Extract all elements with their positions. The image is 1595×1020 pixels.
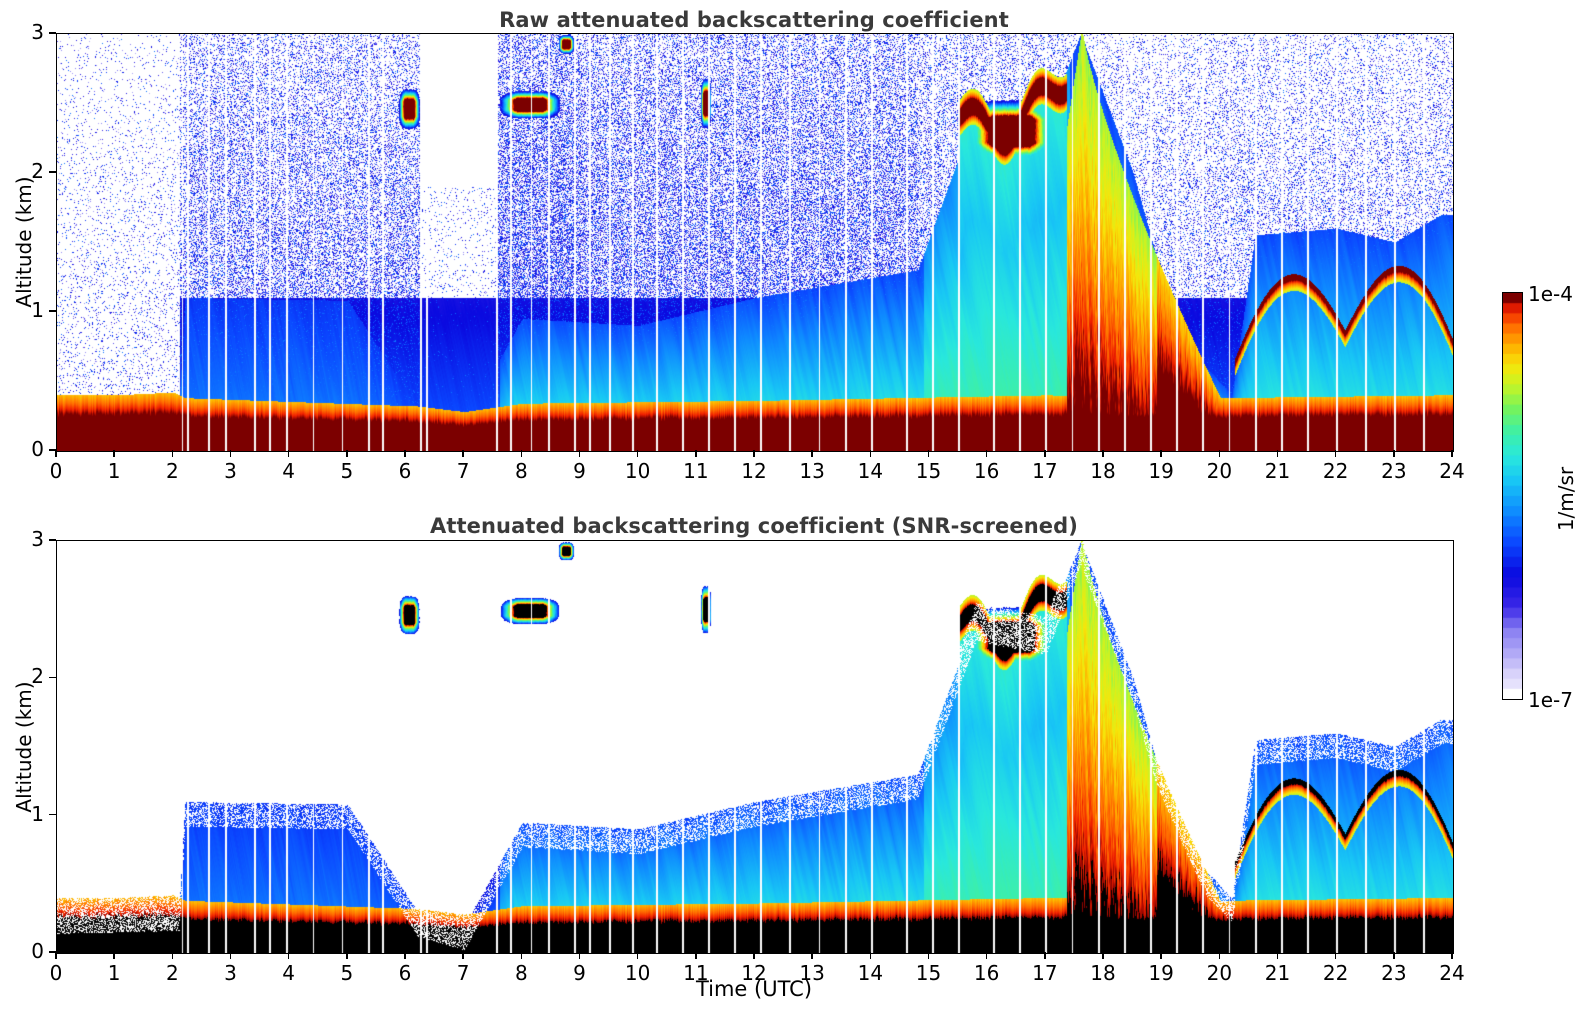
x-tick-label-raw-7: 7 xyxy=(433,459,493,483)
x-tick-label-raw-16: 16 xyxy=(957,459,1017,483)
x-tick-8 xyxy=(521,450,522,457)
x-tick-14 xyxy=(870,450,871,457)
x-tick-21 xyxy=(1277,952,1278,959)
x-tick-label-raw-5: 5 xyxy=(317,459,377,483)
x-tick-label-3: 3 xyxy=(201,961,261,985)
y-tick-label-1: 1 xyxy=(0,802,44,826)
y-tick-label-0: 0 xyxy=(0,437,44,461)
panel-title-screened: Attenuated backscattering coefficient (S… xyxy=(56,514,1452,538)
x-tick-17 xyxy=(1044,952,1045,959)
x-tick-label-raw-11: 11 xyxy=(666,459,726,483)
plot-screened-backscatter xyxy=(56,540,1454,954)
x-tick-label-raw-22: 22 xyxy=(1306,459,1366,483)
y-tick-0 xyxy=(49,951,56,952)
x-tick-label-16: 16 xyxy=(957,961,1017,985)
y-tick-label-2: 2 xyxy=(0,159,44,183)
x-tick-22 xyxy=(1335,952,1336,959)
x-tick-3 xyxy=(230,450,231,457)
x-tick-6 xyxy=(404,952,405,959)
x-tick-17 xyxy=(1044,450,1045,457)
x-tick-20 xyxy=(1219,450,1220,457)
x-tick-label-12: 12 xyxy=(724,961,784,985)
panel-title-raw: Raw attenuated backscattering coefficien… xyxy=(56,8,1452,32)
figure-canvas: Raw attenuated backscattering coefficien… xyxy=(0,0,1595,1020)
x-tick-label-raw-19: 19 xyxy=(1131,459,1191,483)
y-axis-label-screened: Altitude (km) xyxy=(12,677,36,817)
x-tick-11 xyxy=(695,952,696,959)
x-tick-22 xyxy=(1335,450,1336,457)
x-tick-label-2: 2 xyxy=(142,961,202,985)
x-tick-label-raw-9: 9 xyxy=(550,459,610,483)
x-tick-label-24: 24 xyxy=(1422,961,1482,985)
x-tick-4 xyxy=(288,450,289,457)
x-tick-label-raw-4: 4 xyxy=(259,459,319,483)
x-tick-label-4: 4 xyxy=(259,961,319,985)
colorbar-label: 1/m/sr xyxy=(1554,439,1578,559)
x-tick-label-raw-23: 23 xyxy=(1364,459,1424,483)
x-tick-label-14: 14 xyxy=(840,961,900,985)
y-tick-label-2: 2 xyxy=(0,664,44,688)
x-tick-label-19: 19 xyxy=(1131,961,1191,985)
x-tick-8 xyxy=(521,952,522,959)
x-tick-7 xyxy=(462,450,463,457)
x-tick-0 xyxy=(55,952,56,959)
x-tick-label-raw-6: 6 xyxy=(375,459,435,483)
x-tick-label-raw-13: 13 xyxy=(782,459,842,483)
x-tick-label-8: 8 xyxy=(491,961,551,985)
x-tick-18 xyxy=(1102,450,1103,457)
x-tick-label-5: 5 xyxy=(317,961,377,985)
x-tick-10 xyxy=(637,952,638,959)
x-tick-label-10: 10 xyxy=(608,961,668,985)
x-tick-label-9: 9 xyxy=(550,961,610,985)
x-tick-23 xyxy=(1393,952,1394,959)
x-tick-11 xyxy=(695,450,696,457)
y-tick-1 xyxy=(49,814,56,815)
x-tick-6 xyxy=(404,450,405,457)
x-tick-label-raw-18: 18 xyxy=(1073,459,1133,483)
x-tick-5 xyxy=(346,450,347,457)
x-tick-label-20: 20 xyxy=(1189,961,1249,985)
x-tick-label-raw-14: 14 xyxy=(840,459,900,483)
y-tick-2 xyxy=(49,677,56,678)
x-tick-label-22: 22 xyxy=(1306,961,1366,985)
y-tick-3 xyxy=(49,32,56,33)
colorbar-min-tick: 1e-7 xyxy=(1528,688,1573,712)
x-tick-label-raw-0: 0 xyxy=(26,459,86,483)
y-tick-label-0: 0 xyxy=(0,939,44,963)
x-tick-9 xyxy=(579,952,580,959)
y-axis-label-raw: Altitude (km) xyxy=(12,172,36,312)
x-tick-4 xyxy=(288,952,289,959)
x-tick-16 xyxy=(986,952,987,959)
x-tick-1 xyxy=(113,450,114,457)
x-tick-12 xyxy=(753,450,754,457)
x-tick-label-17: 17 xyxy=(1015,961,1075,985)
x-tick-label-23: 23 xyxy=(1364,961,1424,985)
x-tick-5 xyxy=(346,952,347,959)
x-tick-3 xyxy=(230,952,231,959)
x-tick-label-15: 15 xyxy=(899,961,959,985)
y-tick-label-3: 3 xyxy=(0,527,44,551)
x-tick-label-6: 6 xyxy=(375,961,435,985)
x-tick-label-raw-21: 21 xyxy=(1248,459,1308,483)
x-tick-9 xyxy=(579,450,580,457)
x-tick-13 xyxy=(811,450,812,457)
y-tick-1 xyxy=(49,310,56,311)
y-tick-3 xyxy=(49,539,56,540)
x-tick-13 xyxy=(811,952,812,959)
y-tick-label-3: 3 xyxy=(0,20,44,44)
x-tick-2 xyxy=(172,952,173,959)
x-tick-label-raw-12: 12 xyxy=(724,459,784,483)
x-tick-label-raw-17: 17 xyxy=(1015,459,1075,483)
x-tick-2 xyxy=(172,450,173,457)
x-tick-15 xyxy=(928,952,929,959)
colorbar xyxy=(1502,292,1523,700)
y-tick-0 xyxy=(49,449,56,450)
x-tick-14 xyxy=(870,952,871,959)
x-tick-7 xyxy=(462,952,463,959)
x-tick-label-raw-8: 8 xyxy=(491,459,551,483)
x-tick-16 xyxy=(986,450,987,457)
x-tick-1 xyxy=(113,952,114,959)
y-tick-2 xyxy=(49,171,56,172)
x-tick-24 xyxy=(1451,952,1452,959)
x-tick-18 xyxy=(1102,952,1103,959)
x-tick-label-raw-1: 1 xyxy=(84,459,144,483)
x-tick-label-21: 21 xyxy=(1248,961,1308,985)
colorbar-max-tick: 1e-4 xyxy=(1528,282,1573,306)
x-tick-label-7: 7 xyxy=(433,961,493,985)
x-tick-label-raw-15: 15 xyxy=(899,459,959,483)
x-tick-label-raw-20: 20 xyxy=(1189,459,1249,483)
x-tick-20 xyxy=(1219,952,1220,959)
x-tick-label-raw-10: 10 xyxy=(608,459,668,483)
x-tick-19 xyxy=(1160,952,1161,959)
x-tick-10 xyxy=(637,450,638,457)
x-tick-12 xyxy=(753,952,754,959)
plot-raw-backscatter xyxy=(56,33,1454,452)
x-tick-0 xyxy=(55,450,56,457)
x-tick-label-raw-3: 3 xyxy=(201,459,261,483)
x-tick-label-1: 1 xyxy=(84,961,144,985)
y-tick-label-1: 1 xyxy=(0,298,44,322)
x-tick-23 xyxy=(1393,450,1394,457)
x-tick-label-18: 18 xyxy=(1073,961,1133,985)
x-tick-label-0: 0 xyxy=(26,961,86,985)
x-tick-21 xyxy=(1277,450,1278,457)
x-tick-label-raw-2: 2 xyxy=(142,459,202,483)
x-tick-24 xyxy=(1451,450,1452,457)
x-tick-label-11: 11 xyxy=(666,961,726,985)
x-tick-label-13: 13 xyxy=(782,961,842,985)
x-tick-19 xyxy=(1160,450,1161,457)
x-tick-15 xyxy=(928,450,929,457)
x-tick-label-raw-24: 24 xyxy=(1422,459,1482,483)
